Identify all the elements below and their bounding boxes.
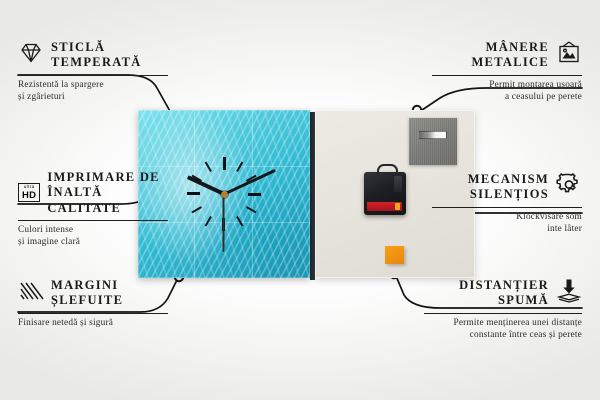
clock-mechanism [364, 172, 406, 215]
feature-metal-handles: MÂNEREMETALICE Permit montarea ușoarăa c… [432, 40, 582, 103]
ultra-hd-icon: ultra HD [18, 183, 40, 202]
diamond-icon [18, 42, 44, 69]
feature-subtitle: Permite menținerea unei distanțeconstant… [424, 317, 582, 341]
feature-title: STICLĂTEMPERATĂ [51, 40, 142, 71]
mechanism-hanging-loop [377, 164, 398, 176]
clock-center-hub [221, 191, 228, 198]
feature-subtitle: Rezistentă la spargereși zgârieturi [18, 79, 168, 103]
feature-title: MECANISMSILENȚIOS [468, 172, 549, 203]
feature-polished-edges: MARGINIȘLEFUITE Finisare netedă și sigur… [18, 278, 168, 329]
mechanism-battery [367, 202, 402, 211]
feature-subtitle: Culori intenseși imagine clară [18, 224, 168, 248]
infographic-canvas: STICLĂTEMPERATĂ Rezistentă la spargereși… [0, 0, 600, 400]
feature-title: MÂNEREMETALICE [471, 40, 549, 71]
feature-divider [18, 220, 168, 221]
feature-subtitle: Klockvisare sominte låter [432, 211, 582, 235]
feature-title: IMPRIMARE DEÎNALTĂ CALITATE [47, 170, 168, 216]
feature-tempered-glass: STICLĂTEMPERATĂ Rezistentă la spargereși… [18, 40, 168, 103]
arrow-down-layers-icon [556, 278, 582, 308]
foam-spacer-pad [385, 246, 404, 264]
mechanism-adjust-knob [394, 176, 402, 192]
hanger-slot [418, 131, 447, 139]
feature-divider [432, 75, 582, 76]
hanger-plate [409, 118, 457, 165]
feature-subtitle: Permit montarea ușoarăa ceasului pe pere… [432, 79, 582, 103]
feature-divider [424, 313, 582, 314]
picture-frame-icon [556, 41, 582, 69]
diagonal-lines-icon [18, 280, 44, 307]
feature-divider [432, 207, 582, 208]
feature-silent-mechanism: MECANISMSILENȚIOS Klockvisare sominte lå… [432, 172, 582, 235]
feature-divider [18, 313, 168, 314]
feature-subtitle: Finisare netedă și sigură [18, 317, 168, 329]
feature-divider [18, 75, 168, 76]
feature-high-quality-print: ultra HD IMPRIMARE DEÎNALTĂ CALITATE Cul… [18, 170, 168, 248]
feature-title: DISTANȚIERSPUMĂ [459, 278, 549, 309]
feature-title: MARGINIȘLEFUITE [51, 278, 123, 309]
feature-foam-spacer: DISTANȚIERSPUMĂ Permite menținerea unei … [424, 278, 582, 341]
gear-icon [556, 172, 582, 202]
